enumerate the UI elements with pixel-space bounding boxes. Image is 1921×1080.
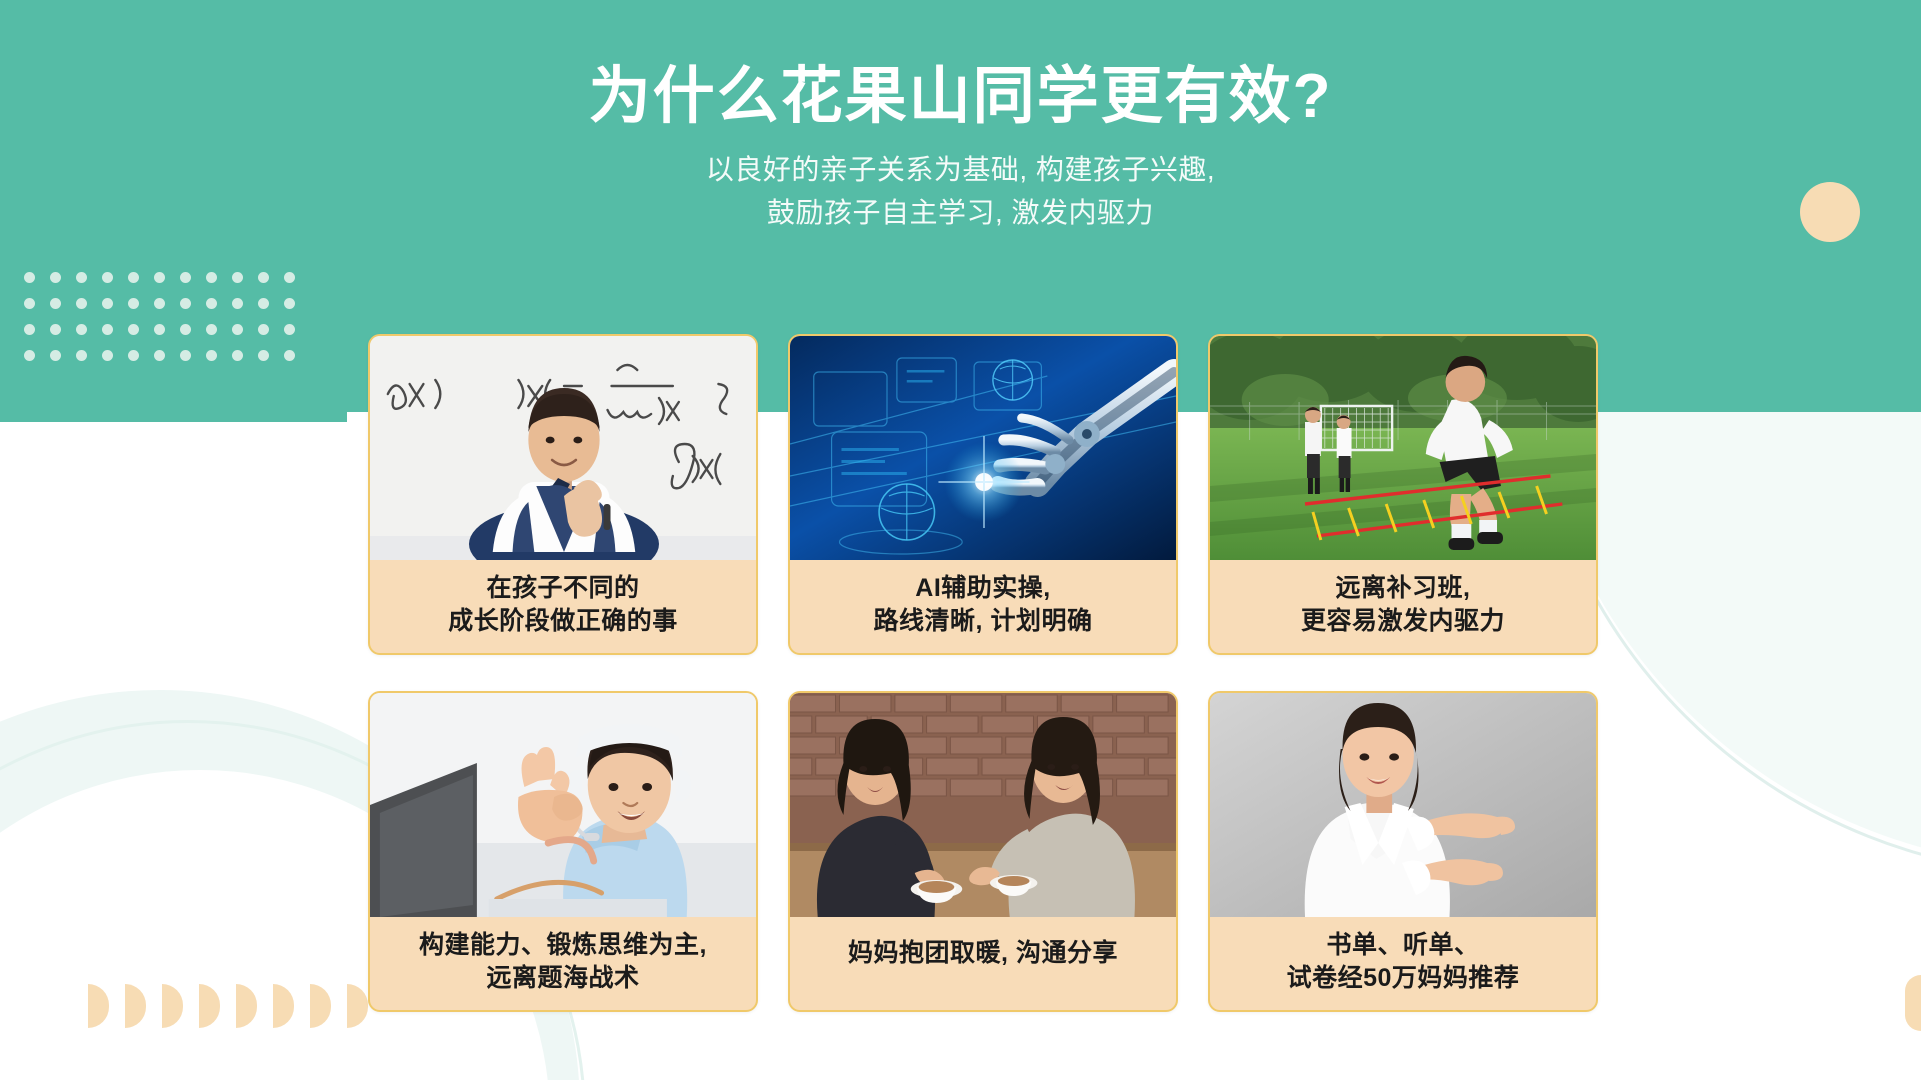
card-caption-ai-practice: AI辅助实操, 路线清晰, 计划明确 bbox=[790, 560, 1176, 653]
teal-left-extension bbox=[0, 400, 347, 422]
card-caption-line-1: AI辅助实操, bbox=[800, 572, 1166, 605]
feature-card-no-cram-school[interactable]: 远离补习班, 更容易激发内驱力 bbox=[1208, 334, 1598, 655]
card-caption-line-2: 路线清晰, 计划明确 bbox=[800, 605, 1166, 638]
feature-card-mom-community[interactable]: 妈妈抱团取暖, 沟通分享 bbox=[788, 691, 1178, 1012]
card-image-build-ability bbox=[370, 693, 756, 917]
feature-card-ai-practice[interactable]: AI辅助实操, 路线清晰, 计划明确 bbox=[788, 334, 1178, 655]
page-subtitle-line-2: 鼓励孩子自主学习, 激发内驱力 bbox=[511, 192, 1411, 235]
page-subtitle: 以良好的亲子关系为基础, 构建孩子兴趣, 鼓励孩子自主学习, 激发内驱力 bbox=[511, 149, 1411, 234]
feature-card-growth-stage[interactable]: 在孩子不同的 成长阶段做正确的事 bbox=[368, 334, 758, 655]
card-caption-line-2: 成长阶段做正确的事 bbox=[380, 605, 746, 638]
page-header: 为什么花果山同学更有效? 以良好的亲子关系为基础, 构建孩子兴趣, 鼓励孩子自主… bbox=[0, 0, 1921, 300]
card-caption-line-1: 妈妈抱团取暖, 沟通分享 bbox=[800, 937, 1166, 970]
card-caption-mom-community: 妈妈抱团取暖, 沟通分享 bbox=[790, 917, 1176, 993]
card-caption-line-1: 构建能力、锻炼思维为主, bbox=[380, 929, 746, 962]
card-caption-line-2: 试卷经50万妈妈推荐 bbox=[1220, 962, 1586, 995]
card-caption-line-2: 更容易激发内驱力 bbox=[1220, 605, 1586, 638]
card-image-growth-stage bbox=[370, 336, 756, 560]
card-caption-recommended: 书单、听单、 试卷经50万妈妈推荐 bbox=[1210, 917, 1596, 1010]
card-image-mom-community bbox=[790, 693, 1176, 917]
feature-card-build-ability[interactable]: 构建能力、锻炼思维为主, 远离题海战术 bbox=[368, 691, 758, 1012]
page-subtitle-line-1: 以良好的亲子关系为基础, 构建孩子兴趣, bbox=[511, 149, 1411, 192]
card-image-no-cram-school bbox=[1210, 336, 1596, 560]
card-caption-line-2: 远离题海战术 bbox=[380, 962, 746, 995]
feature-card-recommended[interactable]: 书单、听单、 试卷经50万妈妈推荐 bbox=[1208, 691, 1598, 1012]
feature-card-grid: 在孩子不同的 成长阶段做正确的事 bbox=[368, 334, 1598, 1012]
card-caption-line-1: 在孩子不同的 bbox=[380, 572, 746, 605]
card-caption-line-1: 远离补习班, bbox=[1220, 572, 1586, 605]
card-image-recommended bbox=[1210, 693, 1596, 917]
card-caption-build-ability: 构建能力、锻炼思维为主, 远离题海战术 bbox=[370, 917, 756, 1010]
card-image-ai-practice bbox=[790, 336, 1176, 560]
peach-halfpill-right-decoration bbox=[1905, 975, 1921, 1031]
page-title: 为什么花果山同学更有效? bbox=[0, 0, 1921, 131]
card-caption-no-cram-school: 远离补习班, 更容易激发内驱力 bbox=[1210, 560, 1596, 653]
card-caption-line-1: 书单、听单、 bbox=[1220, 929, 1586, 962]
halfmoon-pattern bbox=[88, 978, 388, 1034]
card-caption-growth-stage: 在孩子不同的 成长阶段做正确的事 bbox=[370, 560, 756, 653]
